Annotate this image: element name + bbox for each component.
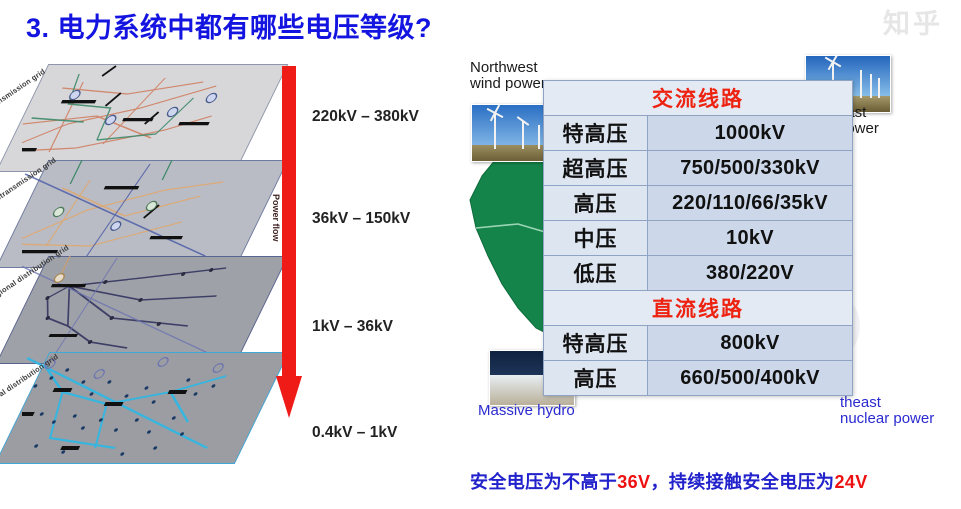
- map-label-southeast-nuclear: theast nuclear power: [840, 395, 934, 427]
- level-voltage: 1000kV: [648, 116, 853, 151]
- page-title: 3. 电力系统中都有哪些电压等级?: [26, 6, 432, 45]
- section-heading-label: 直流线路: [544, 291, 853, 326]
- level-voltage: 750/500/330kV: [648, 151, 853, 186]
- level-voltage: 660/500/400kV: [648, 361, 853, 396]
- table-section-heading-dc: 直流线路: [544, 291, 853, 326]
- voltage-range-label-4: 0.4kV – 1kV: [312, 424, 397, 442]
- table-row: 高压 660/500/400kV: [544, 361, 853, 396]
- level-voltage: 10kV: [648, 221, 853, 256]
- safety-voltage-note: 安全电压为不高于36V，持续接触安全电压为24V: [470, 468, 868, 494]
- power-flow-arrow: Power flow: [276, 66, 302, 418]
- slide-canvas: 知乎 3. 电力系统中都有哪些电压等级?: [0, 0, 961, 509]
- zhihu-watermark: 知乎: [883, 2, 943, 41]
- table-row: 高压 220/110/66/35kV: [544, 186, 853, 221]
- level-voltage: 800kV: [648, 326, 853, 361]
- level-voltage: 380/220V: [648, 256, 853, 291]
- section-heading-label: 交流线路: [544, 81, 853, 116]
- level-label: 超高压: [544, 151, 648, 186]
- local-network-graphic: [22, 352, 262, 464]
- table-section-heading-ac: 交流线路: [544, 81, 853, 116]
- arrow-shaft: [282, 66, 296, 381]
- level-label: 中压: [544, 221, 648, 256]
- table-row: 特高压 800kV: [544, 326, 853, 361]
- table-row: 中压 10kV: [544, 221, 853, 256]
- note-part-2: ，持续接触安全电压为: [650, 472, 834, 492]
- note-value-24v: 24V: [834, 472, 867, 492]
- voltage-range-label-2: 36kV – 150kV: [312, 210, 410, 228]
- power-flow-label: Power flow: [271, 194, 281, 242]
- note-value-36v: 36V: [617, 472, 650, 492]
- level-label: 高压: [544, 361, 648, 396]
- level-label: 低压: [544, 256, 648, 291]
- table-row: 低压 380/220V: [544, 256, 853, 291]
- table-row: 超高压 750/500/330kV: [544, 151, 853, 186]
- voltage-range-label-3: 1kV – 36kV: [312, 318, 393, 336]
- level-voltage: 220/110/66/35kV: [648, 186, 853, 221]
- level-label: 特高压: [544, 116, 648, 151]
- arrow-head-icon: [276, 376, 302, 418]
- voltage-levels-table: 交流线路 特高压 1000kV 超高压 750/500/330kV 高压 220…: [543, 80, 853, 396]
- table-row: 特高压 1000kV: [544, 116, 853, 151]
- grid-layer-local: Local distribution grid: [4, 344, 276, 464]
- layered-grid-diagram: Transmission grid: [4, 56, 276, 466]
- note-part-1: 安全电压为不高于: [470, 472, 617, 492]
- level-label: 高压: [544, 186, 648, 221]
- map-label-northwest-wind: Northwest wind power: [470, 60, 546, 92]
- level-label: 特高压: [544, 326, 648, 361]
- map-label-massive-hydro: Massive hydro: [478, 403, 575, 419]
- voltage-range-label-1: 220kV – 380kV: [312, 108, 419, 126]
